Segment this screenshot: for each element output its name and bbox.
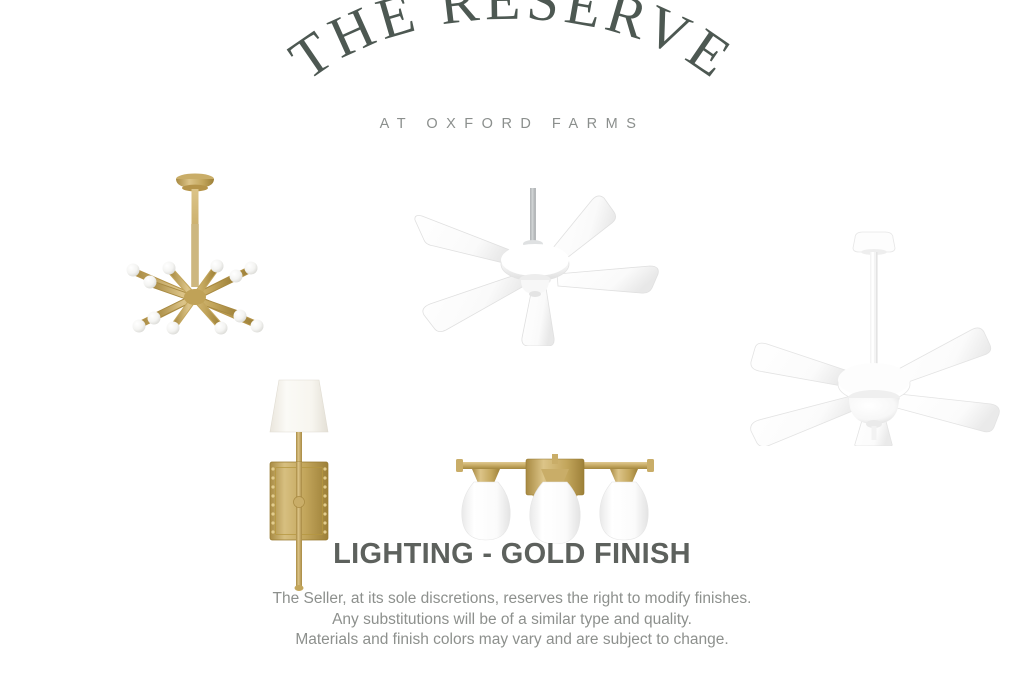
brand-subtitle: AT OXFORD FARMS — [380, 116, 645, 132]
page-title: LIGHTING - GOLD FINISH — [0, 538, 1024, 571]
product-image-ceiling-fan-angled — [402, 188, 687, 346]
disclaimer-line-2: Any substitutions will be of a similar t… — [0, 610, 1024, 631]
brand-logo-arch: THE RESERVE — [277, 18, 747, 110]
lighting-selection-page: THE RESERVE AT OXFORD FARMS — [0, 0, 1024, 696]
disclaimer-text: The Seller, at its sole discretions, res… — [0, 589, 1024, 651]
brand-title: THE RESERVE — [278, 0, 746, 92]
product-image-ceiling-fan-with-light-kit — [733, 228, 1018, 446]
disclaimer-line-1: The Seller, at its sole discretions, res… — [0, 589, 1024, 610]
product-image-sputnik-chandelier — [108, 164, 283, 369]
brand-logo: THE RESERVE AT OXFORD FARMS — [0, 18, 1024, 133]
product-image-vanity-fixture — [444, 446, 666, 544]
disclaimer-line-3: Materials and finish colors may vary and… — [0, 630, 1024, 651]
